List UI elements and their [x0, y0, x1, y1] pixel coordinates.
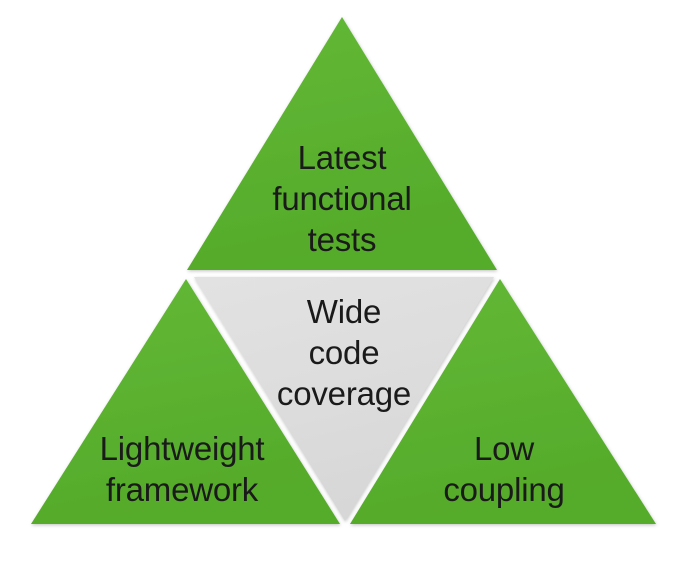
segment-top-shape[interactable] [187, 17, 497, 270]
pyramid-diagram: Latest functional tests Wide code covera… [0, 0, 682, 569]
pyramid-shapes [0, 0, 682, 569]
